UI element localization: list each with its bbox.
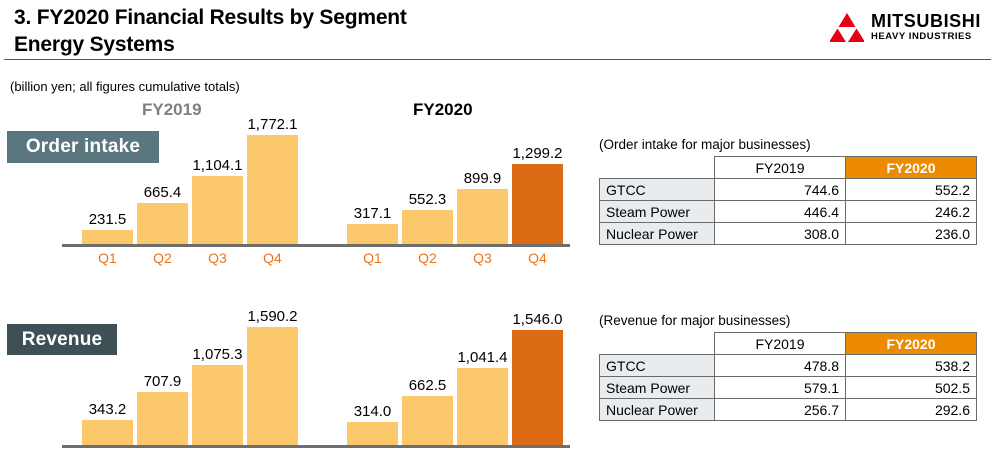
table-cell-fy2019: 446.4 — [715, 201, 846, 223]
table-row-label: Steam Power — [600, 377, 715, 399]
table-header-row: FY2019 FY2020 — [600, 333, 977, 355]
bar-fy2019-q1 — [82, 420, 133, 445]
quarter-label-q2: Q2 — [137, 250, 188, 266]
table-cell-fy2019: 478.8 — [715, 355, 846, 377]
table-row-label: GTCC — [600, 355, 715, 377]
table-cell-fy2020: 538.2 — [846, 355, 977, 377]
table-revenue: FY2019 FY2020 GTCC478.8538.2Steam Power5… — [599, 332, 977, 421]
bar-value-label: 314.0 — [333, 403, 412, 420]
table-cell-fy2020: 246.2 — [846, 201, 977, 223]
bar-fy2019-q4 — [247, 135, 298, 244]
bar-value-label: 899.9 — [443, 170, 522, 187]
table-body: GTCC744.6552.2Steam Power446.4246.2Nucle… — [600, 179, 977, 245]
series-tag-order-intake: Order intake — [7, 131, 159, 163]
bar-fy2019-q2 — [137, 203, 188, 244]
chart-baseline — [62, 445, 570, 448]
table-row: GTCC478.8538.2 — [600, 355, 977, 377]
bar-fy2020-q3 — [457, 368, 508, 445]
table-row-label: Nuclear Power — [600, 399, 715, 421]
bar-value-label: 1,041.4 — [443, 349, 522, 366]
bar-value-label: 665.4 — [123, 184, 202, 201]
table-row-label: Nuclear Power — [600, 223, 715, 245]
table-cell-fy2019: 579.1 — [715, 377, 846, 399]
table-cell-fy2019: 308.0 — [715, 223, 846, 245]
table-body: GTCC478.8538.2Steam Power579.1502.5Nucle… — [600, 355, 977, 421]
quarter-label-q1: Q1 — [82, 250, 133, 266]
bar-fy2020-q2 — [402, 210, 453, 244]
table-order-intake: FY2019 FY2020 GTCC744.6552.2Steam Power4… — [599, 156, 977, 245]
bar-fy2020-q2 — [402, 396, 453, 445]
bar-fy2019-q1 — [82, 230, 133, 244]
bar-fy2020-q1 — [347, 224, 398, 244]
quarter-label-q2: Q2 — [402, 250, 453, 266]
mitsubishi-logo: MITSUBISHI HEAVY INDUSTRIES — [830, 12, 981, 42]
table-block-revenue: (Revenue for major businesses) FY2019 FY… — [599, 313, 979, 421]
chart-order-intake: Order intake 231.5Q1665.4Q21,104.1Q31,77… — [0, 120, 592, 272]
table-cell-fy2020: 552.2 — [846, 179, 977, 201]
table-row: Nuclear Power256.7292.6 — [600, 399, 977, 421]
quarter-label-q1: Q1 — [347, 250, 398, 266]
bar-value-label: 1,772.1 — [233, 116, 312, 133]
bar-fy2020-q1 — [347, 422, 398, 445]
bar-value-label: 1,546.0 — [498, 311, 577, 328]
table-corner-cell — [600, 157, 715, 179]
quarter-label-q4: Q4 — [247, 250, 298, 266]
table-header-fy2019: FY2019 — [715, 333, 846, 355]
chart-baseline — [62, 244, 570, 247]
bar-value-label: 1,104.1 — [178, 157, 257, 174]
header-divider — [4, 59, 991, 60]
bar-fy2019-q3 — [192, 365, 243, 445]
table-row-label: GTCC — [600, 179, 715, 201]
table-header-fy2020: FY2020 — [846, 333, 977, 355]
bar-value-label: 662.5 — [388, 377, 467, 394]
bar-value-label: 707.9 — [123, 373, 202, 390]
table-cell-fy2020: 292.6 — [846, 399, 977, 421]
logo-text-secondary: HEAVY INDUSTRIES — [871, 32, 981, 42]
series-tag-revenue: Revenue — [7, 324, 117, 355]
table-cell-fy2019: 744.6 — [715, 179, 846, 201]
page-title: 3. FY2020 Financial Results by Segment E… — [14, 4, 714, 58]
table-header-fy2020: FY2020 — [846, 157, 977, 179]
table-header-fy2019: FY2019 — [715, 157, 846, 179]
bar-value-label: 1,590.2 — [233, 308, 312, 325]
bar-fy2020-q3 — [457, 189, 508, 244]
table-block-order-intake: (Order intake for major businesses) FY20… — [599, 137, 979, 245]
table-cell-fy2020: 502.5 — [846, 377, 977, 399]
table-row: Steam Power579.1502.5 — [600, 377, 977, 399]
chart-group-header-fy2019: FY2019 — [142, 100, 202, 120]
units-note: (billion yen; all figures cumulative tot… — [10, 79, 240, 94]
table-caption: (Order intake for major businesses) — [599, 137, 979, 152]
bar-value-label: 231.5 — [68, 211, 147, 228]
bar-fy2019-q3 — [192, 176, 243, 244]
quarter-label-q3: Q3 — [192, 250, 243, 266]
table-cell-fy2020: 236.0 — [846, 223, 977, 245]
table-caption: (Revenue for major businesses) — [599, 313, 979, 328]
table-corner-cell — [600, 333, 715, 355]
table-header-row: FY2019 FY2020 — [600, 157, 977, 179]
bar-value-label: 552.3 — [388, 191, 467, 208]
quarter-label-q3: Q3 — [457, 250, 508, 266]
bar-value-label: 1,299.2 — [498, 145, 577, 162]
table-row: Nuclear Power308.0236.0 — [600, 223, 977, 245]
bar-value-label: 343.2 — [68, 401, 147, 418]
three-diamonds-icon — [830, 12, 864, 42]
table-cell-fy2019: 256.7 — [715, 399, 846, 421]
bar-value-label: 1,075.3 — [178, 346, 257, 363]
bar-fy2019-q4 — [247, 327, 298, 445]
bar-fy2020-q4 — [512, 164, 563, 244]
table-row-label: Steam Power — [600, 201, 715, 223]
quarter-label-q4: Q4 — [512, 250, 563, 266]
chart-revenue: Revenue 343.2707.91,075.31,590.2314.0662… — [0, 312, 592, 460]
logo-text-primary: MITSUBISHI — [871, 12, 981, 30]
bar-fy2020-q4 — [512, 330, 563, 445]
chart-group-header-fy2020: FY2020 — [413, 100, 473, 120]
table-row: GTCC744.6552.2 — [600, 179, 977, 201]
bar-fy2019-q2 — [137, 392, 188, 445]
table-row: Steam Power446.4246.2 — [600, 201, 977, 223]
